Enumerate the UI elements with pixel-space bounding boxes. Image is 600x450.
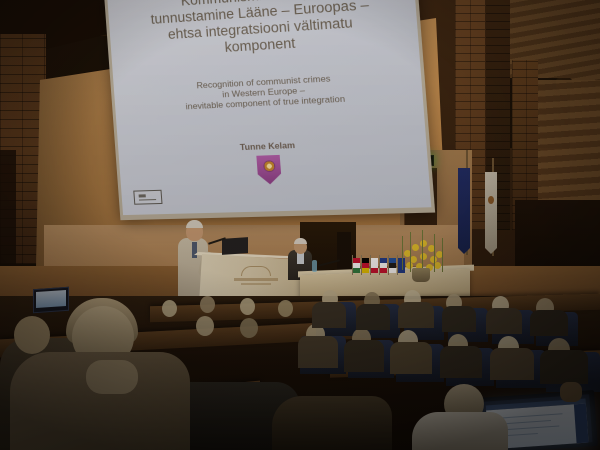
audience-member-torso — [440, 346, 482, 378]
flag-hungary — [353, 258, 360, 273]
audience-member-head — [278, 300, 293, 317]
audience-member-head — [240, 318, 258, 338]
audience-member-head — [240, 298, 255, 315]
flower-stem — [434, 234, 435, 272]
audience-hand — [560, 382, 582, 402]
flower-bloom — [412, 244, 419, 251]
audience-member-head — [196, 316, 214, 336]
audience-member-torso — [486, 308, 522, 334]
projection-screen: Kommunismi kuritegude tunnustamine Lääne… — [107, 0, 431, 215]
audience-laptop-left[interactable] — [33, 287, 69, 314]
audience-member-torso — [540, 350, 588, 384]
slide-title: Kommunismi kuritegude tunnustamine Lääne… — [113, 0, 412, 62]
banner-emblem-icon — [488, 196, 494, 204]
crest-text-line-2 — [241, 283, 271, 285]
audience-member-torso — [312, 302, 346, 328]
slide-subtitle: Recognition of communist crimes in Weste… — [128, 69, 408, 115]
slide-corner-marker-icon — [133, 190, 162, 205]
projection-screen-frame: Kommunismi kuritegude tunnustamine Lääne… — [104, 0, 435, 220]
corner-marker-bar-1 — [139, 194, 146, 197]
flag-estonia — [389, 258, 396, 273]
star-icon — [263, 160, 276, 172]
standing-banner-blue — [458, 168, 470, 254]
audience-member-torso — [490, 348, 534, 380]
laptop-screen-left — [36, 290, 66, 308]
flower-stem — [410, 232, 411, 272]
left-wall-shadow — [0, 150, 16, 265]
audience-member-mid-right — [272, 396, 392, 450]
crest-text-line-1 — [234, 278, 278, 281]
flower-vase — [412, 268, 430, 282]
podium-laptop[interactable] — [222, 237, 248, 255]
audience-member-head — [200, 296, 215, 313]
flower-stem — [442, 238, 443, 272]
presenter-tie — [192, 242, 197, 258]
standing-banner-white — [485, 172, 497, 254]
crest-arch — [241, 266, 271, 276]
flag-poland — [371, 258, 378, 273]
shield-emblem-icon — [256, 155, 282, 185]
water-bottle — [312, 260, 317, 272]
audience-member-head — [162, 300, 177, 317]
flower-bloom — [434, 262, 441, 269]
audience-member-torso — [344, 340, 384, 372]
auditorium-photo: EXIT Kommunismi kuritegude tunnustamine … — [0, 0, 600, 450]
audience-member-torso — [298, 336, 338, 368]
shield-shape — [256, 155, 282, 185]
audience-member-torso — [390, 342, 432, 374]
slide-author-name: Tunne Kelam — [132, 135, 411, 156]
panelist-hair — [294, 238, 307, 244]
flag-france — [380, 258, 387, 273]
flag-germany — [362, 258, 369, 273]
audience-member-foreground-arm — [86, 360, 138, 394]
corner-marker-bar-2 — [139, 199, 156, 201]
audience-member-torso — [398, 302, 434, 328]
audience-member-torso — [530, 310, 568, 336]
flower-stem — [402, 236, 403, 270]
presenter-hair — [186, 220, 203, 228]
audience-member-torso — [442, 306, 476, 332]
audience-member-with-laptop — [412, 412, 508, 450]
audience-member-left-rear-head — [14, 316, 50, 354]
flower-stem — [422, 230, 423, 272]
audience-member-torso — [356, 304, 390, 330]
institution-crest-icon — [232, 266, 280, 292]
